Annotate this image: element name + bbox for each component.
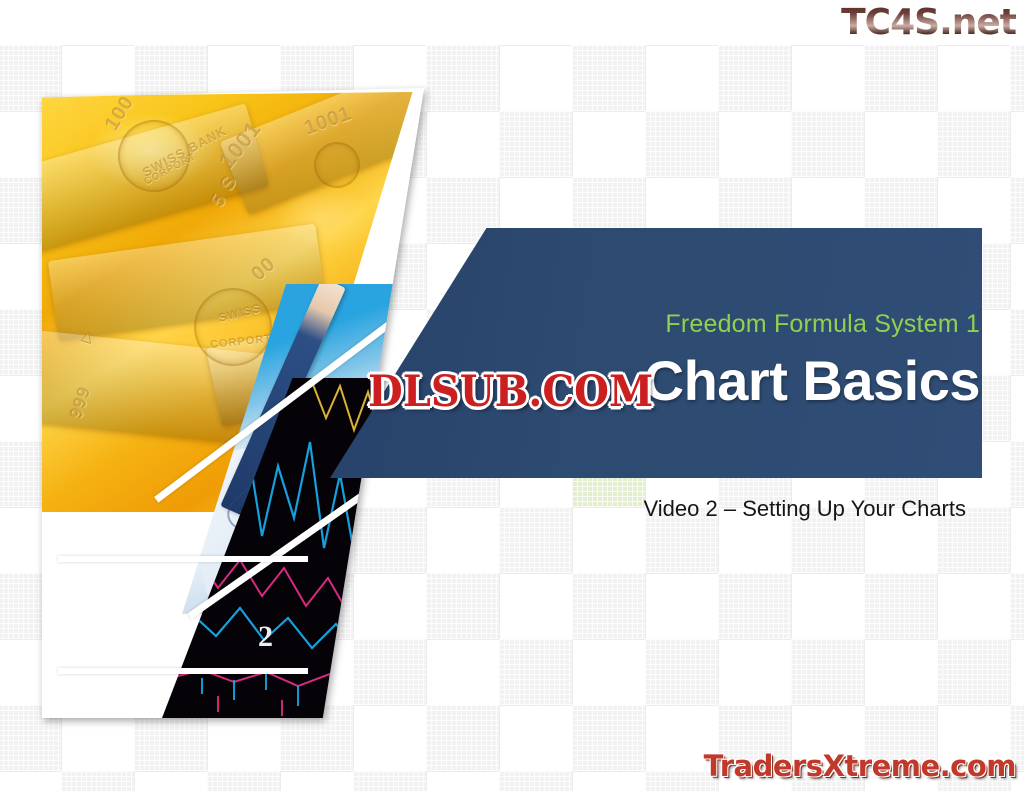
grid-cell <box>1010 573 1024 639</box>
grid-cell <box>572 705 645 771</box>
grid-cell <box>718 45 791 111</box>
grid-cell <box>645 111 718 177</box>
slide-canvas: SWISS BANK CORPORT 100 1001 1001 5 S 00 … <box>0 0 1024 791</box>
grid-cell <box>61 771 134 791</box>
grid-cell <box>572 573 645 639</box>
tc4s-brand-logo: TC4S.net <box>841 2 1016 43</box>
grid-cell <box>1010 45 1024 111</box>
grid-cell <box>791 639 864 705</box>
grid-cell <box>499 111 572 177</box>
grid-cell <box>499 639 572 705</box>
grid-cell <box>645 639 718 705</box>
grid-cell <box>1010 441 1024 507</box>
tradersxtreme-logo: TradersXtreme.com <box>704 749 1016 783</box>
grid-cell <box>937 639 1010 705</box>
grid-cell <box>426 573 499 639</box>
grid-cell <box>499 771 572 791</box>
svg-text:2: 2 <box>258 620 273 653</box>
grid-cell <box>572 45 645 111</box>
grid-cell <box>937 111 1010 177</box>
dlsub-watermark: DLSUB.COM <box>368 366 653 417</box>
grid-cell <box>1010 309 1024 375</box>
grid-cell <box>353 771 426 791</box>
grid-cell <box>864 45 937 111</box>
page-title: Chart Basics <box>644 348 980 413</box>
grid-cell <box>426 705 499 771</box>
grid-rule-vertical <box>1010 45 1011 791</box>
grid-cell <box>864 573 937 639</box>
banner-eyebrow: Freedom Formula System 1 <box>665 310 980 339</box>
video-subtitle: Video 2 – Setting Up Your Charts <box>644 496 966 522</box>
grid-cell <box>207 771 280 791</box>
grid-cell <box>426 45 499 111</box>
grid-cell <box>718 573 791 639</box>
grid-cell <box>791 111 864 177</box>
grid-cell <box>1010 177 1024 243</box>
grid-cell <box>499 507 572 573</box>
